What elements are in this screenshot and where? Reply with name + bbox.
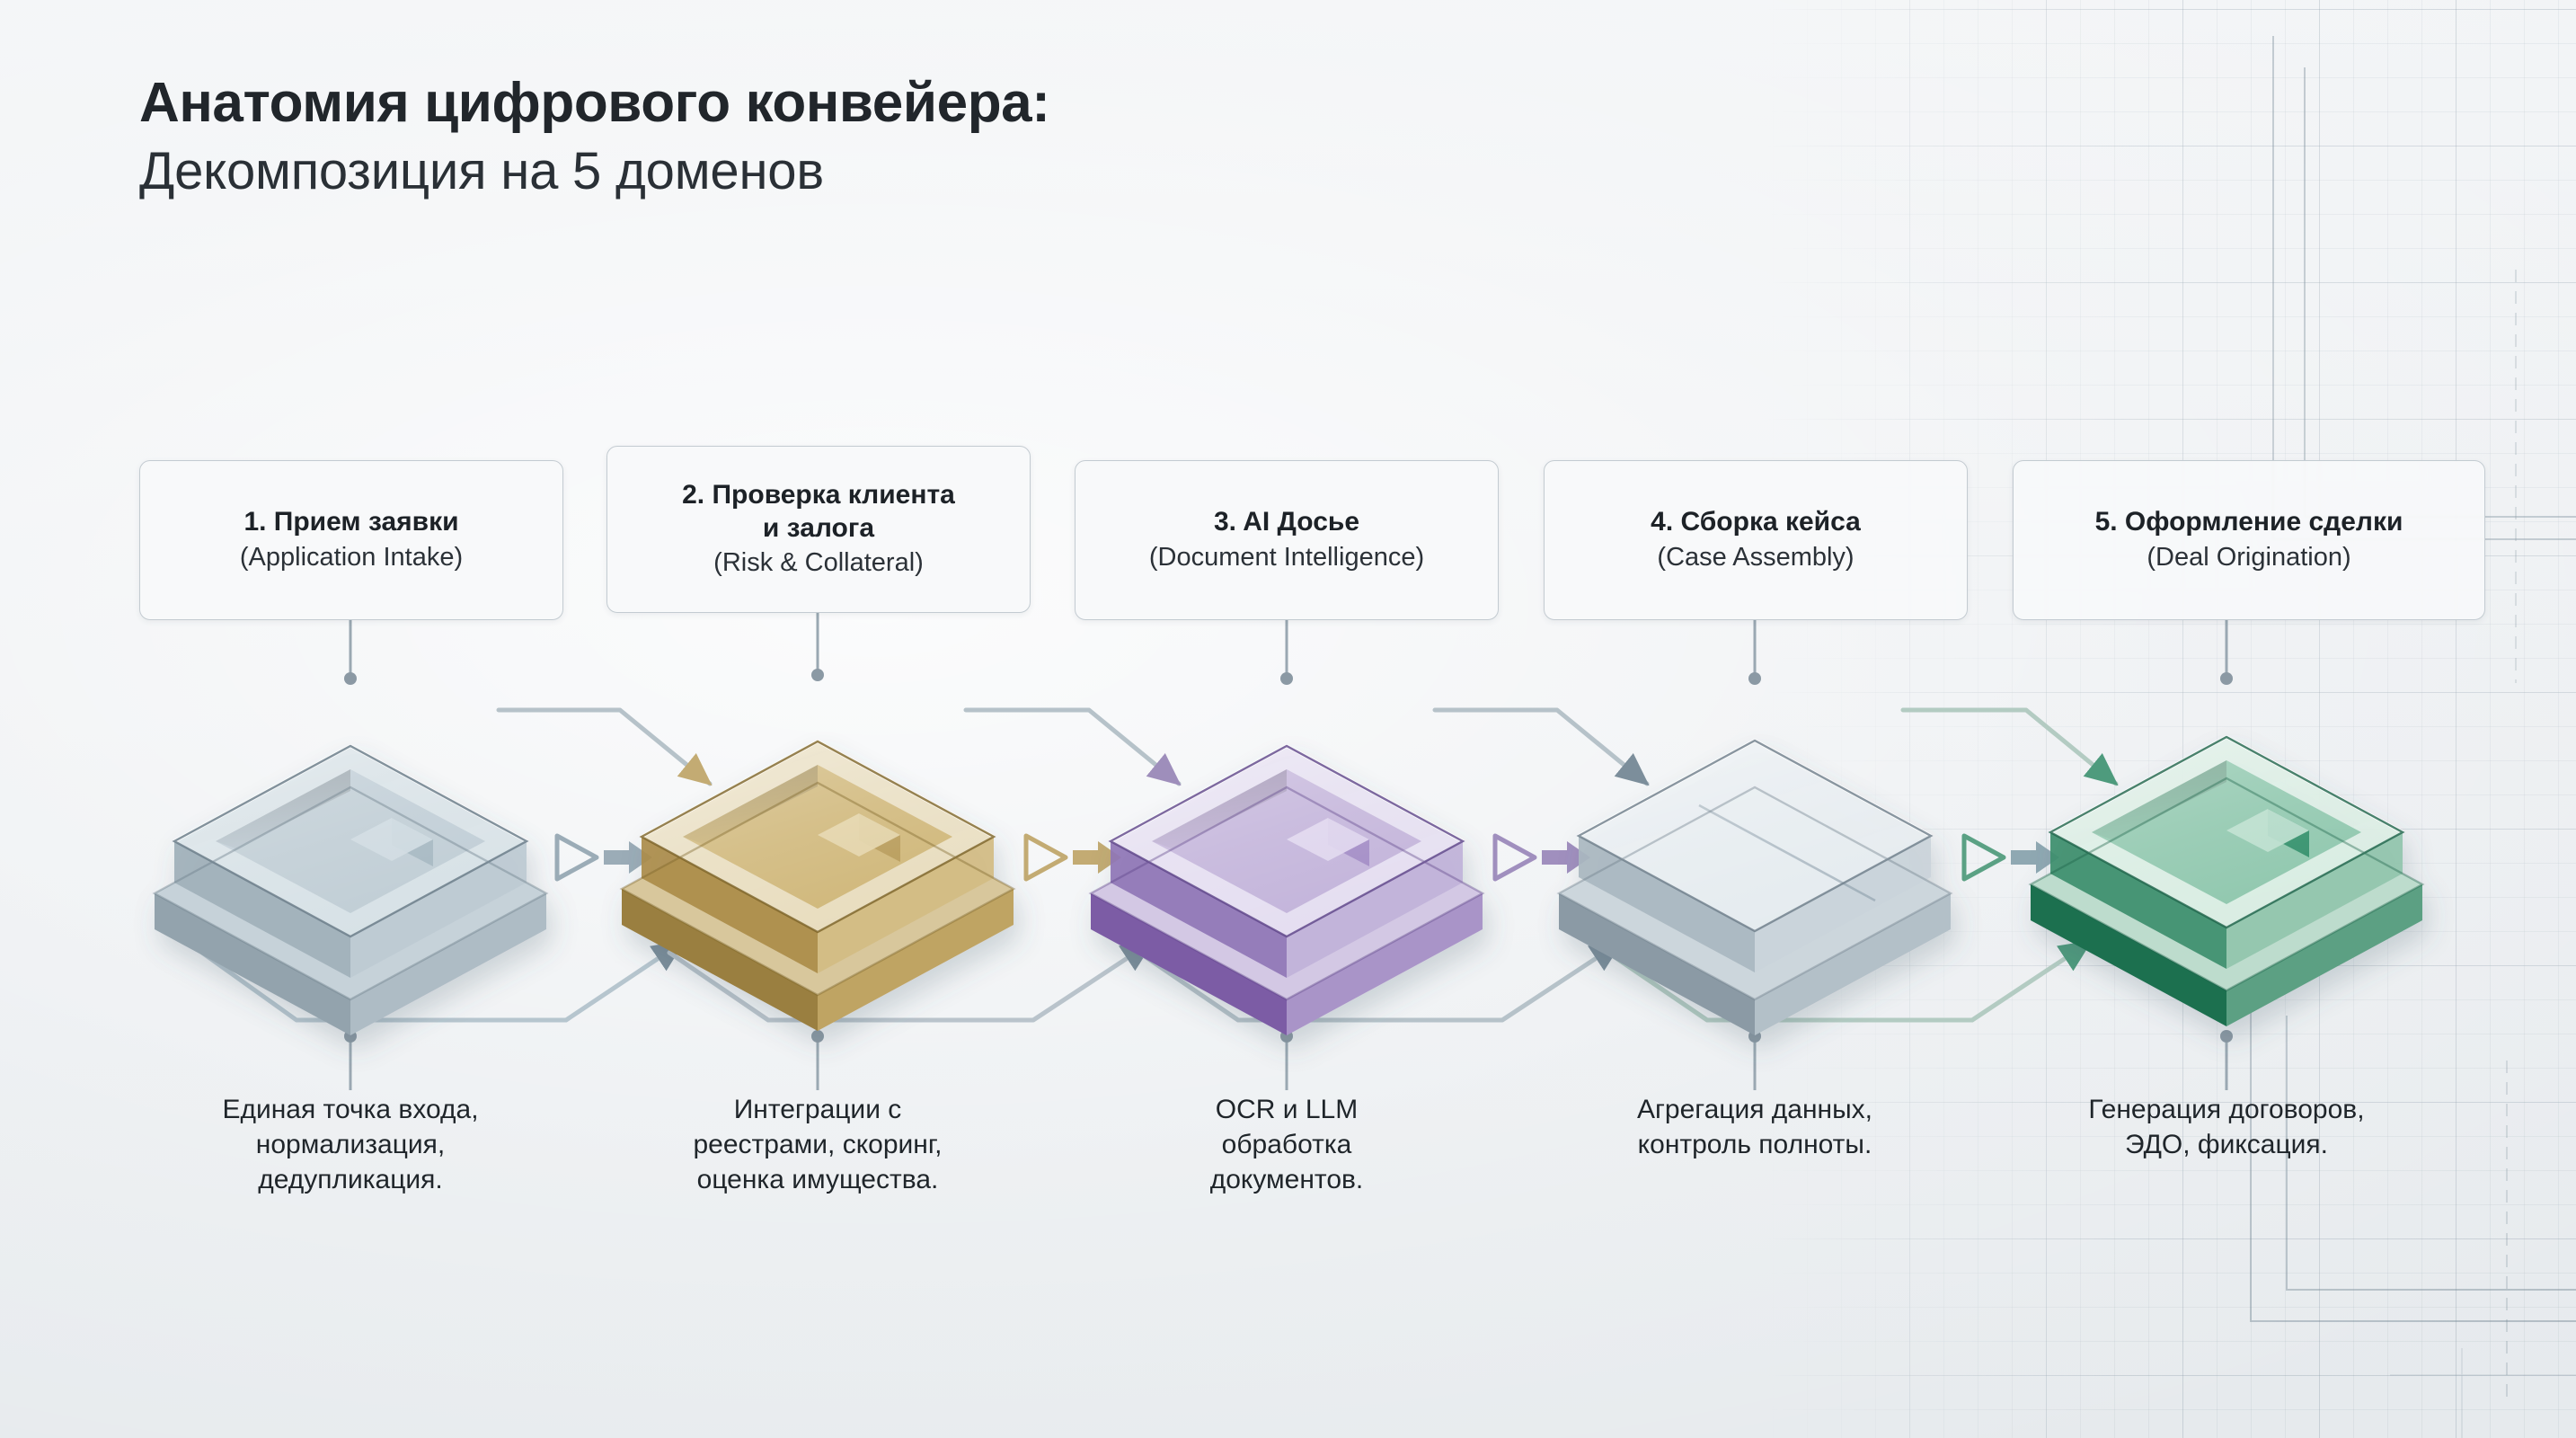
- stage-card-deal-origination[interactable]: 5. Оформление сделки (Deal Origination): [2013, 460, 2485, 620]
- caption-deal-origination: Генерация договоров, ЭДО, фиксация.: [1993, 1092, 2460, 1162]
- page-header: Анатомия цифрового конвейера: Декомпозиц…: [139, 74, 1050, 202]
- step-marker-4-5: [1964, 836, 2059, 879]
- stage-card-application-intake[interactable]: 1. Прием заявки (Application Intake): [139, 460, 563, 620]
- caption-case-assembly: Агрегация данных, контроль полноты.: [1530, 1092, 1979, 1162]
- stage-subtitle: (Case Assembly): [1657, 542, 1854, 574]
- stage-card-leader-dots: [344, 669, 2233, 685]
- page-title-primary: Анатомия цифрового конвейера:: [139, 74, 1050, 134]
- stage-title: 3. AI Досье: [1214, 506, 1359, 539]
- stage-card-risk-collateral[interactable]: 2. Проверка клиента и залога (Risk & Col…: [606, 446, 1031, 613]
- tray-risk-collateral: [622, 741, 1014, 1031]
- tray-application-intake: [155, 746, 546, 1035]
- stage-card-leader-lines: [350, 613, 2226, 676]
- stage-subtitle: (Deal Origination): [2147, 542, 2350, 574]
- stage-card-document-intelligence[interactable]: 3. AI Досье (Document Intelligence): [1075, 460, 1499, 620]
- tray-case-assembly: [1559, 741, 1951, 1035]
- step-marker-2-3: [1026, 836, 1121, 879]
- caption-risk-collateral: Интеграции с реестрами, скоринг, оценка …: [593, 1092, 1042, 1197]
- tray-deal-origination: [2031, 737, 2422, 1026]
- stage-card-case-assembly[interactable]: 4. Сборка кейса (Case Assembly): [1544, 460, 1968, 620]
- stage-subtitle: (Application Intake): [240, 542, 463, 574]
- tray-document-intelligence: [1091, 746, 1483, 1035]
- stage-subtitle: (Document Intelligence): [1149, 542, 1424, 574]
- stage-title: 2. Проверка клиента и залога: [682, 479, 955, 545]
- stage-title: 4. Сборка кейса: [1651, 506, 1861, 539]
- stage-title: 5. Оформление сделки: [2095, 506, 2403, 539]
- stage-subtitle: (Risk & Collateral): [713, 547, 924, 580]
- step-marker-1-2: [557, 836, 652, 879]
- caption-application-intake: Единая точка входа, нормализация, дедупл…: [126, 1092, 575, 1197]
- stage-title: 1. Прием заявки: [243, 506, 458, 539]
- pipeline-flow-diagram: [0, 0, 2576, 1438]
- step-marker-3-4: [1495, 836, 1590, 879]
- caption-document-intelligence: OCR и LLM обработка документов.: [1062, 1092, 1511, 1197]
- page-title-secondary: Декомпозиция на 5 доменов: [139, 141, 1050, 202]
